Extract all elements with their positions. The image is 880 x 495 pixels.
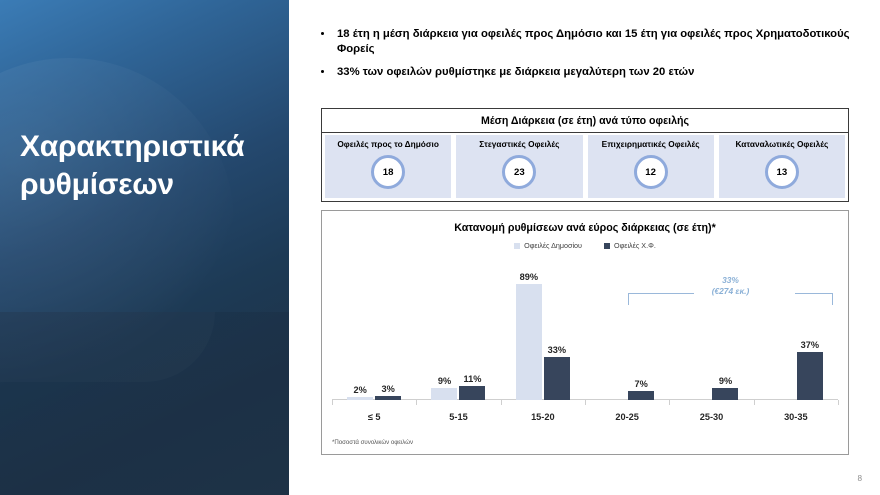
page-number: 8 [857, 474, 862, 483]
x-axis-tick-label: ≤ 5 [332, 412, 416, 422]
bar-value-label: 11% [464, 374, 482, 384]
bar-pair: 9%11% [416, 259, 500, 400]
table-header: Μέση Διάρκεια (σε έτη) ανά τύπο οφειλής [322, 109, 848, 133]
bar-public [600, 259, 626, 400]
x-axis-tick [332, 400, 333, 405]
legend-label: Οφειλές Χ.Φ. [614, 241, 656, 250]
x-axis-tick-label: 20-25 [585, 412, 669, 422]
x-axis-tick [754, 400, 755, 405]
x-axis-tick [501, 400, 502, 405]
bar-financial: 11% [459, 259, 485, 400]
bar-value-label: 9% [719, 376, 732, 386]
bar [516, 284, 542, 400]
bar-public: 2% [347, 259, 373, 400]
bar-group: 9%11% [416, 259, 500, 400]
bar-public: 89% [516, 259, 542, 400]
table-cell-housing: Στεγαστικές Οφειλές 23 [456, 135, 582, 198]
bar-pair: 2%3% [332, 259, 416, 400]
legend-label: Οφειλές Δημοσίου [524, 241, 582, 250]
table-cell-business: Επιχειρηματικές Οφειλές 12 [588, 135, 714, 198]
bullet-list: 18 έτη η μέση διάρκεια για οφειλές προς … [319, 27, 871, 87]
x-axis-tick [416, 400, 417, 405]
x-axis-tick-label: 5-15 [416, 412, 500, 422]
legend-swatch-light [514, 243, 520, 249]
list-item: 18 έτη η μέση διάρκεια για οφειλές προς … [319, 27, 871, 58]
duration-table: Μέση Διάρκεια (σε έτη) ανά τύπο οφειλής … [321, 108, 849, 202]
bar-pair: 89%33% [501, 259, 585, 400]
bullet-dot-icon [321, 70, 324, 73]
value-ring: 23 [502, 155, 536, 189]
bar-financial: 9% [712, 259, 738, 400]
bar-plot: 33% (€274 εκ.) 2%3%9%11%89%33%7%9%37% ≤ … [328, 259, 842, 424]
bar-pair: 9% [669, 259, 753, 400]
bar-value-label: 37% [801, 340, 819, 350]
bar-pair: 7% [585, 259, 669, 400]
bar-group: 7% [585, 259, 669, 400]
bar [431, 388, 457, 400]
bar-pair: 37% [754, 259, 838, 400]
bar [628, 391, 654, 400]
distribution-chart-card: Κατανομή ρυθμίσεων ανά εύρος διάρκειας (… [321, 210, 849, 455]
table-cell-consumer: Καταναλωτικές Οφειλές 13 [719, 135, 845, 198]
x-axis-tick [585, 400, 586, 405]
bar-financial: 7% [628, 259, 654, 400]
bar-public: 9% [431, 259, 457, 400]
table-row: Οφειλές προς το Δημόσιο 18 Στεγαστικές Ο… [322, 133, 848, 201]
chart-title: Κατανομή ρυθμίσεων ανά εύρος διάρκειας (… [322, 222, 848, 234]
bar-financial: 33% [544, 259, 570, 400]
bar-financial: 3% [375, 259, 401, 400]
bar-group: 9% [669, 259, 753, 400]
chart-footnote: *Ποσοστά συνολικών οφειλών [332, 439, 413, 446]
bar-group: 37% [754, 259, 838, 400]
bullet-text: 33% των οφειλών ρυθμίστηκε με διάρκεια μ… [337, 66, 694, 78]
x-axis-tick-label: 25-30 [669, 412, 753, 422]
x-axis-tick-label: 30-35 [754, 412, 838, 422]
table-cell-label: Καταναλωτικές Οφειλές [735, 140, 828, 149]
bar-group: 89%33% [501, 259, 585, 400]
legend-swatch-dark [604, 243, 610, 249]
bar-value-label: 89% [520, 272, 538, 282]
bar [544, 357, 570, 400]
legend-item-public: Οφειλές Δημοσίου [514, 241, 582, 250]
x-axis-tick [838, 400, 839, 405]
x-axis-tick-label: 15-20 [501, 412, 585, 422]
table-cell-public: Οφειλές προς το Δημόσιο 18 [325, 135, 451, 198]
bar [712, 388, 738, 400]
bar-group: 2%3% [332, 259, 416, 400]
table-cell-label: Οφειλές προς το Δημόσιο [337, 140, 439, 149]
title-panel: Χαρακτηριστικά ρυθμίσεων [0, 0, 289, 495]
legend-item-financial: Οφειλές Χ.Φ. [604, 241, 656, 250]
bar [797, 352, 823, 400]
list-item: 33% των οφειλών ρυθμίστηκε με διάρκεια μ… [319, 65, 871, 80]
bar-value-label: 33% [548, 345, 566, 355]
chart-legend: Οφειλές Δημοσίου Οφειλές Χ.Φ. [322, 241, 848, 250]
x-axis-tick [669, 400, 670, 405]
bullet-text: 18 έτη η μέση διάρκεια για οφειλές προς … [337, 28, 850, 55]
bar-financial: 37% [797, 259, 823, 400]
bar [459, 386, 485, 400]
value-ring: 13 [765, 155, 799, 189]
table-cell-label: Στεγαστικές Οφειλές [479, 140, 559, 149]
value-ring: 18 [371, 155, 405, 189]
bar-value-label: 7% [635, 379, 648, 389]
bullet-dot-icon [321, 32, 324, 35]
bar-value-label: 2% [354, 385, 367, 395]
bar-public [769, 259, 795, 400]
bar [375, 396, 401, 400]
bar-value-label: 9% [438, 376, 451, 386]
content-area: 18 έτη η μέση διάρκεια για οφειλές προς … [289, 0, 880, 495]
bar [347, 397, 373, 400]
slide: Χαρακτηριστικά ρυθμίσεων 18 έτη η μέση δ… [0, 0, 880, 495]
page-title: Χαρακτηριστικά ρυθμίσεων [20, 128, 282, 205]
bar-public [684, 259, 710, 400]
table-cell-label: Επιχειρηματικές Οφειλές [602, 140, 700, 149]
bar-value-label: 3% [382, 384, 395, 394]
value-ring: 12 [634, 155, 668, 189]
